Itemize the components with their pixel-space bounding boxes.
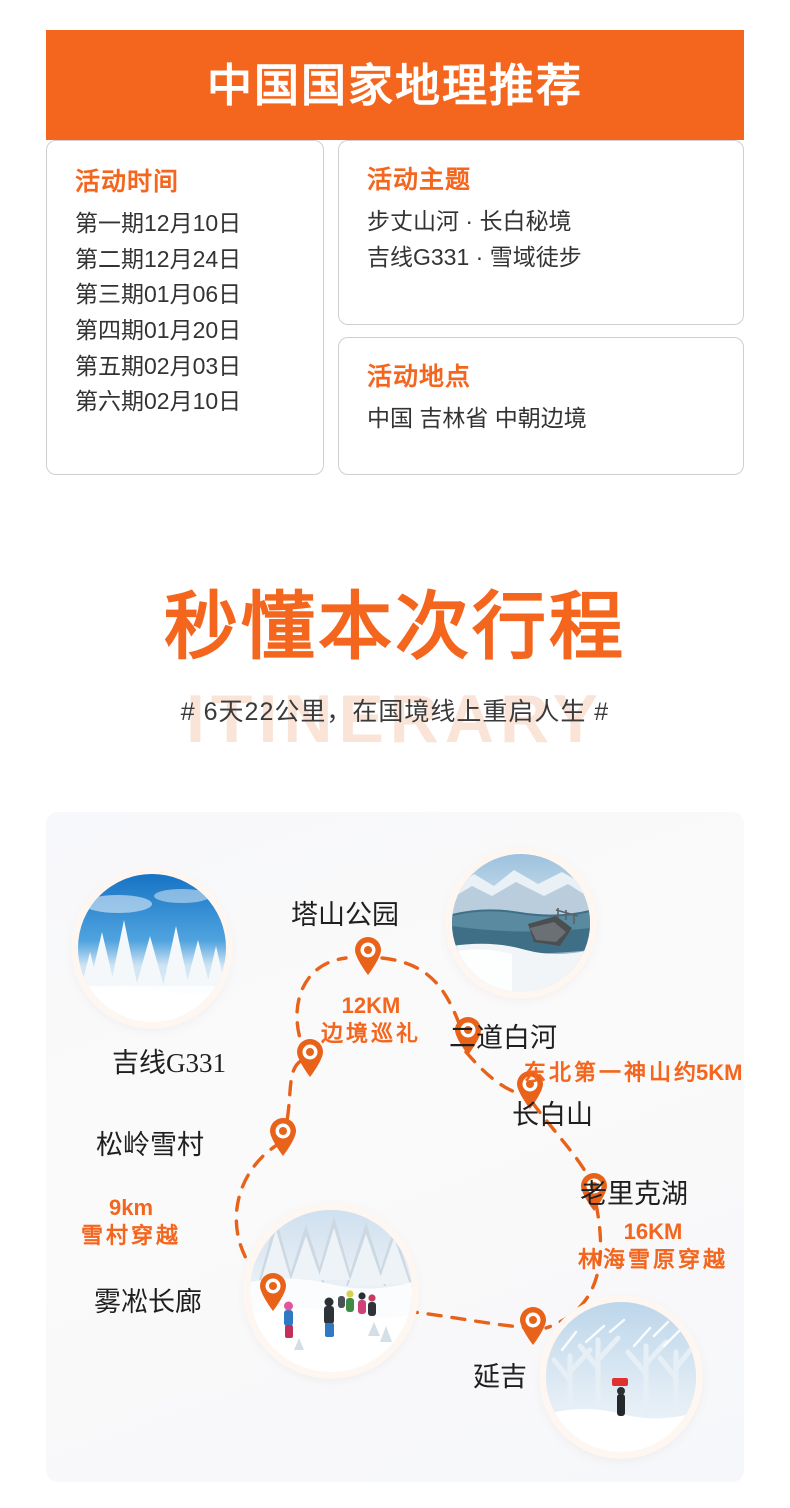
segment-description: 边境巡礼 <box>301 1020 441 1048</box>
map-label-jixian-g331: 吉线G331 <box>112 1050 226 1077</box>
map-label-laolike-lake: 老里克湖 <box>580 1181 688 1208</box>
activity-theme-item: 吉线G331 · 雪域徒步 <box>367 240 743 276</box>
info-card-body: 活动时间 第一期12月10日 第二期12月24日 第三期01月06日 第四期01… <box>46 140 744 475</box>
segment-description: 东北第一神山 <box>524 1059 674 1087</box>
segment-distance: 约5KM <box>674 1059 742 1087</box>
map-pin-tashan-park[interactable] <box>353 936 383 976</box>
itinerary-map: 吉线G331 塔山公园 二道白河 长白山 老里克湖 松岭雪村 雾凇长廊 延吉 1… <box>46 812 744 1482</box>
segment-description: 林海雪原穿越 <box>562 1246 744 1274</box>
hero-section: ITINERARY 秒懂本次行程 # 6天22公里，在国境线上重启人生 # <box>0 590 790 728</box>
map-label-tashan-park: 塔山公园 <box>291 902 399 929</box>
activity-time-item: 第四期01月20日 <box>75 313 323 349</box>
panel-activity-theme-title: 活动主题 <box>367 165 743 195</box>
map-segment-border-patrol: 12KM 边境巡礼 <box>301 992 441 1047</box>
map-label-erdaobaihe: 二道白河 <box>449 1025 557 1052</box>
panel-activity-place: 活动地点 中国 吉林省 中朝边境 <box>338 337 744 475</box>
activity-time-item: 第二期12月24日 <box>75 242 323 278</box>
activity-place-item: 中国 吉林省 中朝边境 <box>367 401 743 437</box>
map-pin-yanji[interactable] <box>518 1306 548 1346</box>
info-card-header: 中国国家地理推荐 <box>46 30 744 140</box>
segment-distance: 12KM <box>301 992 441 1020</box>
panel-activity-theme: 活动主题 步丈山河 · 长白秘境 吉线G331 · 雪域徒步 <box>338 140 744 325</box>
panel-activity-time-title: 活动时间 <box>75 167 323 197</box>
info-card-right-column: 活动主题 步丈山河 · 长白秘境 吉线G331 · 雪域徒步 活动地点 中国 吉… <box>338 140 744 475</box>
map-segment-changbaishan-approach: 东北第一神山约5KM <box>524 1059 744 1087</box>
segment-distance: 16KM <box>562 1218 744 1246</box>
activity-time-item: 第五期02月03日 <box>75 349 323 385</box>
map-pin-wusong-corridor[interactable] <box>258 1272 288 1312</box>
rime-trees-photo <box>546 1302 696 1452</box>
map-label-songling-snow-village: 松岭雪村 <box>96 1132 204 1159</box>
map-pin-songling-snow-village[interactable] <box>268 1117 298 1157</box>
map-segment-forest-snowfield: 16KM 林海雪原穿越 <box>562 1218 744 1273</box>
map-segment-snow-village-crossing: 9km 雪村穿越 <box>56 1194 206 1249</box>
hero-title: 秒懂本次行程 <box>0 590 790 664</box>
map-label-changbaishan: 长白山 <box>512 1102 593 1129</box>
activity-time-item: 第六期02月10日 <box>75 384 323 420</box>
map-label-wusong-corridor: 雾凇长廊 <box>94 1289 202 1316</box>
activity-time-item: 第三期01月06日 <box>75 277 323 313</box>
activity-theme-item: 步丈山河 · 长白秘境 <box>367 204 743 240</box>
info-card: 中国国家地理推荐 活动时间 第一期12月10日 第二期12月24日 第三期01月… <box>46 30 744 475</box>
activity-time-item: 第一期12月10日 <box>75 206 323 242</box>
page-title: 中国国家地理推荐 <box>207 63 583 108</box>
map-label-yanji: 延吉 <box>473 1364 527 1391</box>
hero-subtitle: # 6天22公里，在国境线上重启人生 # <box>0 692 790 728</box>
tianchi-lake-photo <box>452 854 590 992</box>
segment-distance: 9km <box>56 1194 206 1222</box>
panel-activity-time: 活动时间 第一期12月10日 第二期12月24日 第三期01月06日 第四期01… <box>46 140 324 475</box>
panel-activity-place-title: 活动地点 <box>367 362 743 392</box>
segment-description: 雪村穿越 <box>56 1222 206 1250</box>
snow-forest-photo <box>78 874 226 1022</box>
